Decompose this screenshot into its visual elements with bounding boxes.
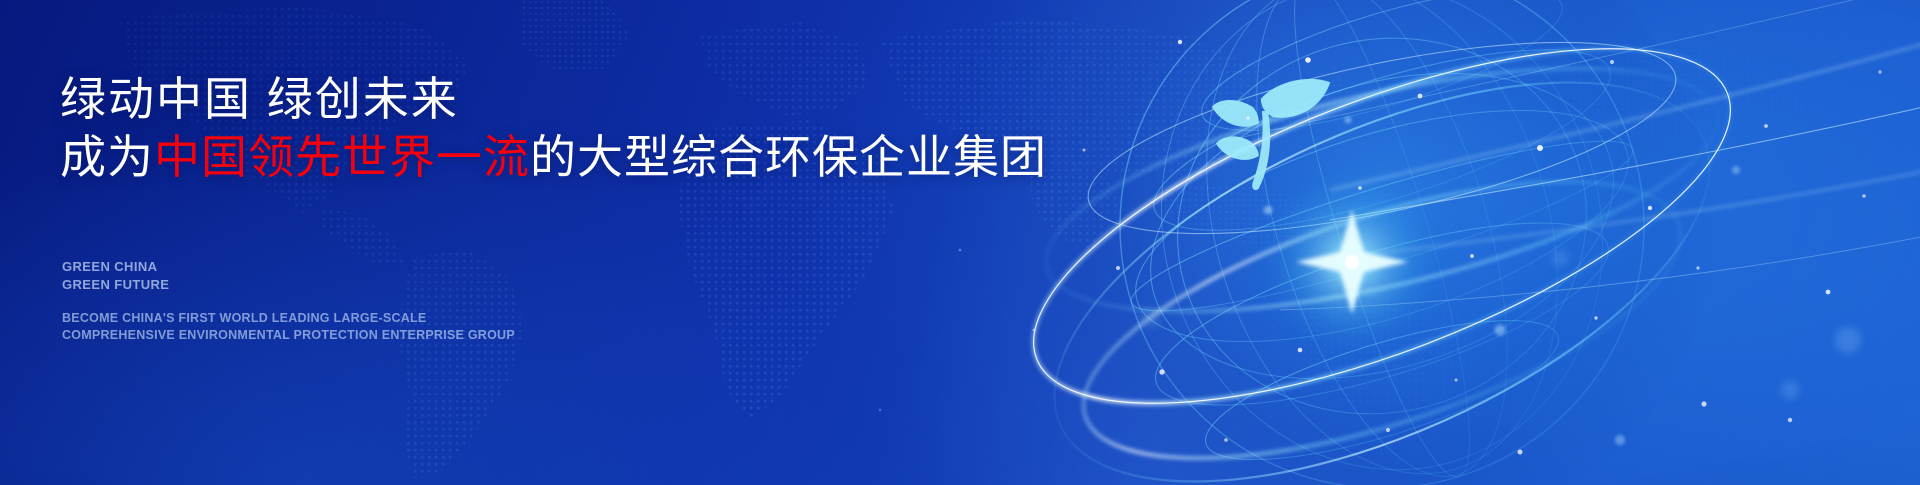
slogan-line-2: GREEN FUTURE [62,276,169,294]
wireframe-globe [1030,0,1750,485]
headline-block: 绿动中国 绿创未来 成为中国领先世界一流的大型综合环保企业集团 [60,72,1060,185]
headline-highlight: 中国领先世界一流 [154,131,530,183]
slogan-line-1: GREEN CHINA [62,258,169,276]
sprout-icon [1212,79,1330,190]
headline-suffix: 的大型综合环保企业集团 [530,131,1047,183]
headline-line-1: 绿动中国 绿创未来 [60,72,1060,126]
star-flare [1266,176,1438,348]
headline-line-2: 成为中国领先世界一流的大型综合环保企业集团 [60,130,1060,185]
description-english: BECOME CHINA'S FIRST WORLD LEADING LARGE… [62,310,515,344]
description-line-2: COMPREHENSIVE ENVIRONMENTAL PROTECTION E… [62,327,515,344]
description-line-1: BECOME CHINA'S FIRST WORLD LEADING LARGE… [62,310,515,327]
headline-prefix: 成为 [60,131,154,183]
hero-banner: 绿动中国 绿创未来 成为中国领先世界一流的大型综合环保企业集团 GREEN CH… [0,0,1920,485]
slogan-english: GREEN CHINA GREEN FUTURE [62,258,169,293]
